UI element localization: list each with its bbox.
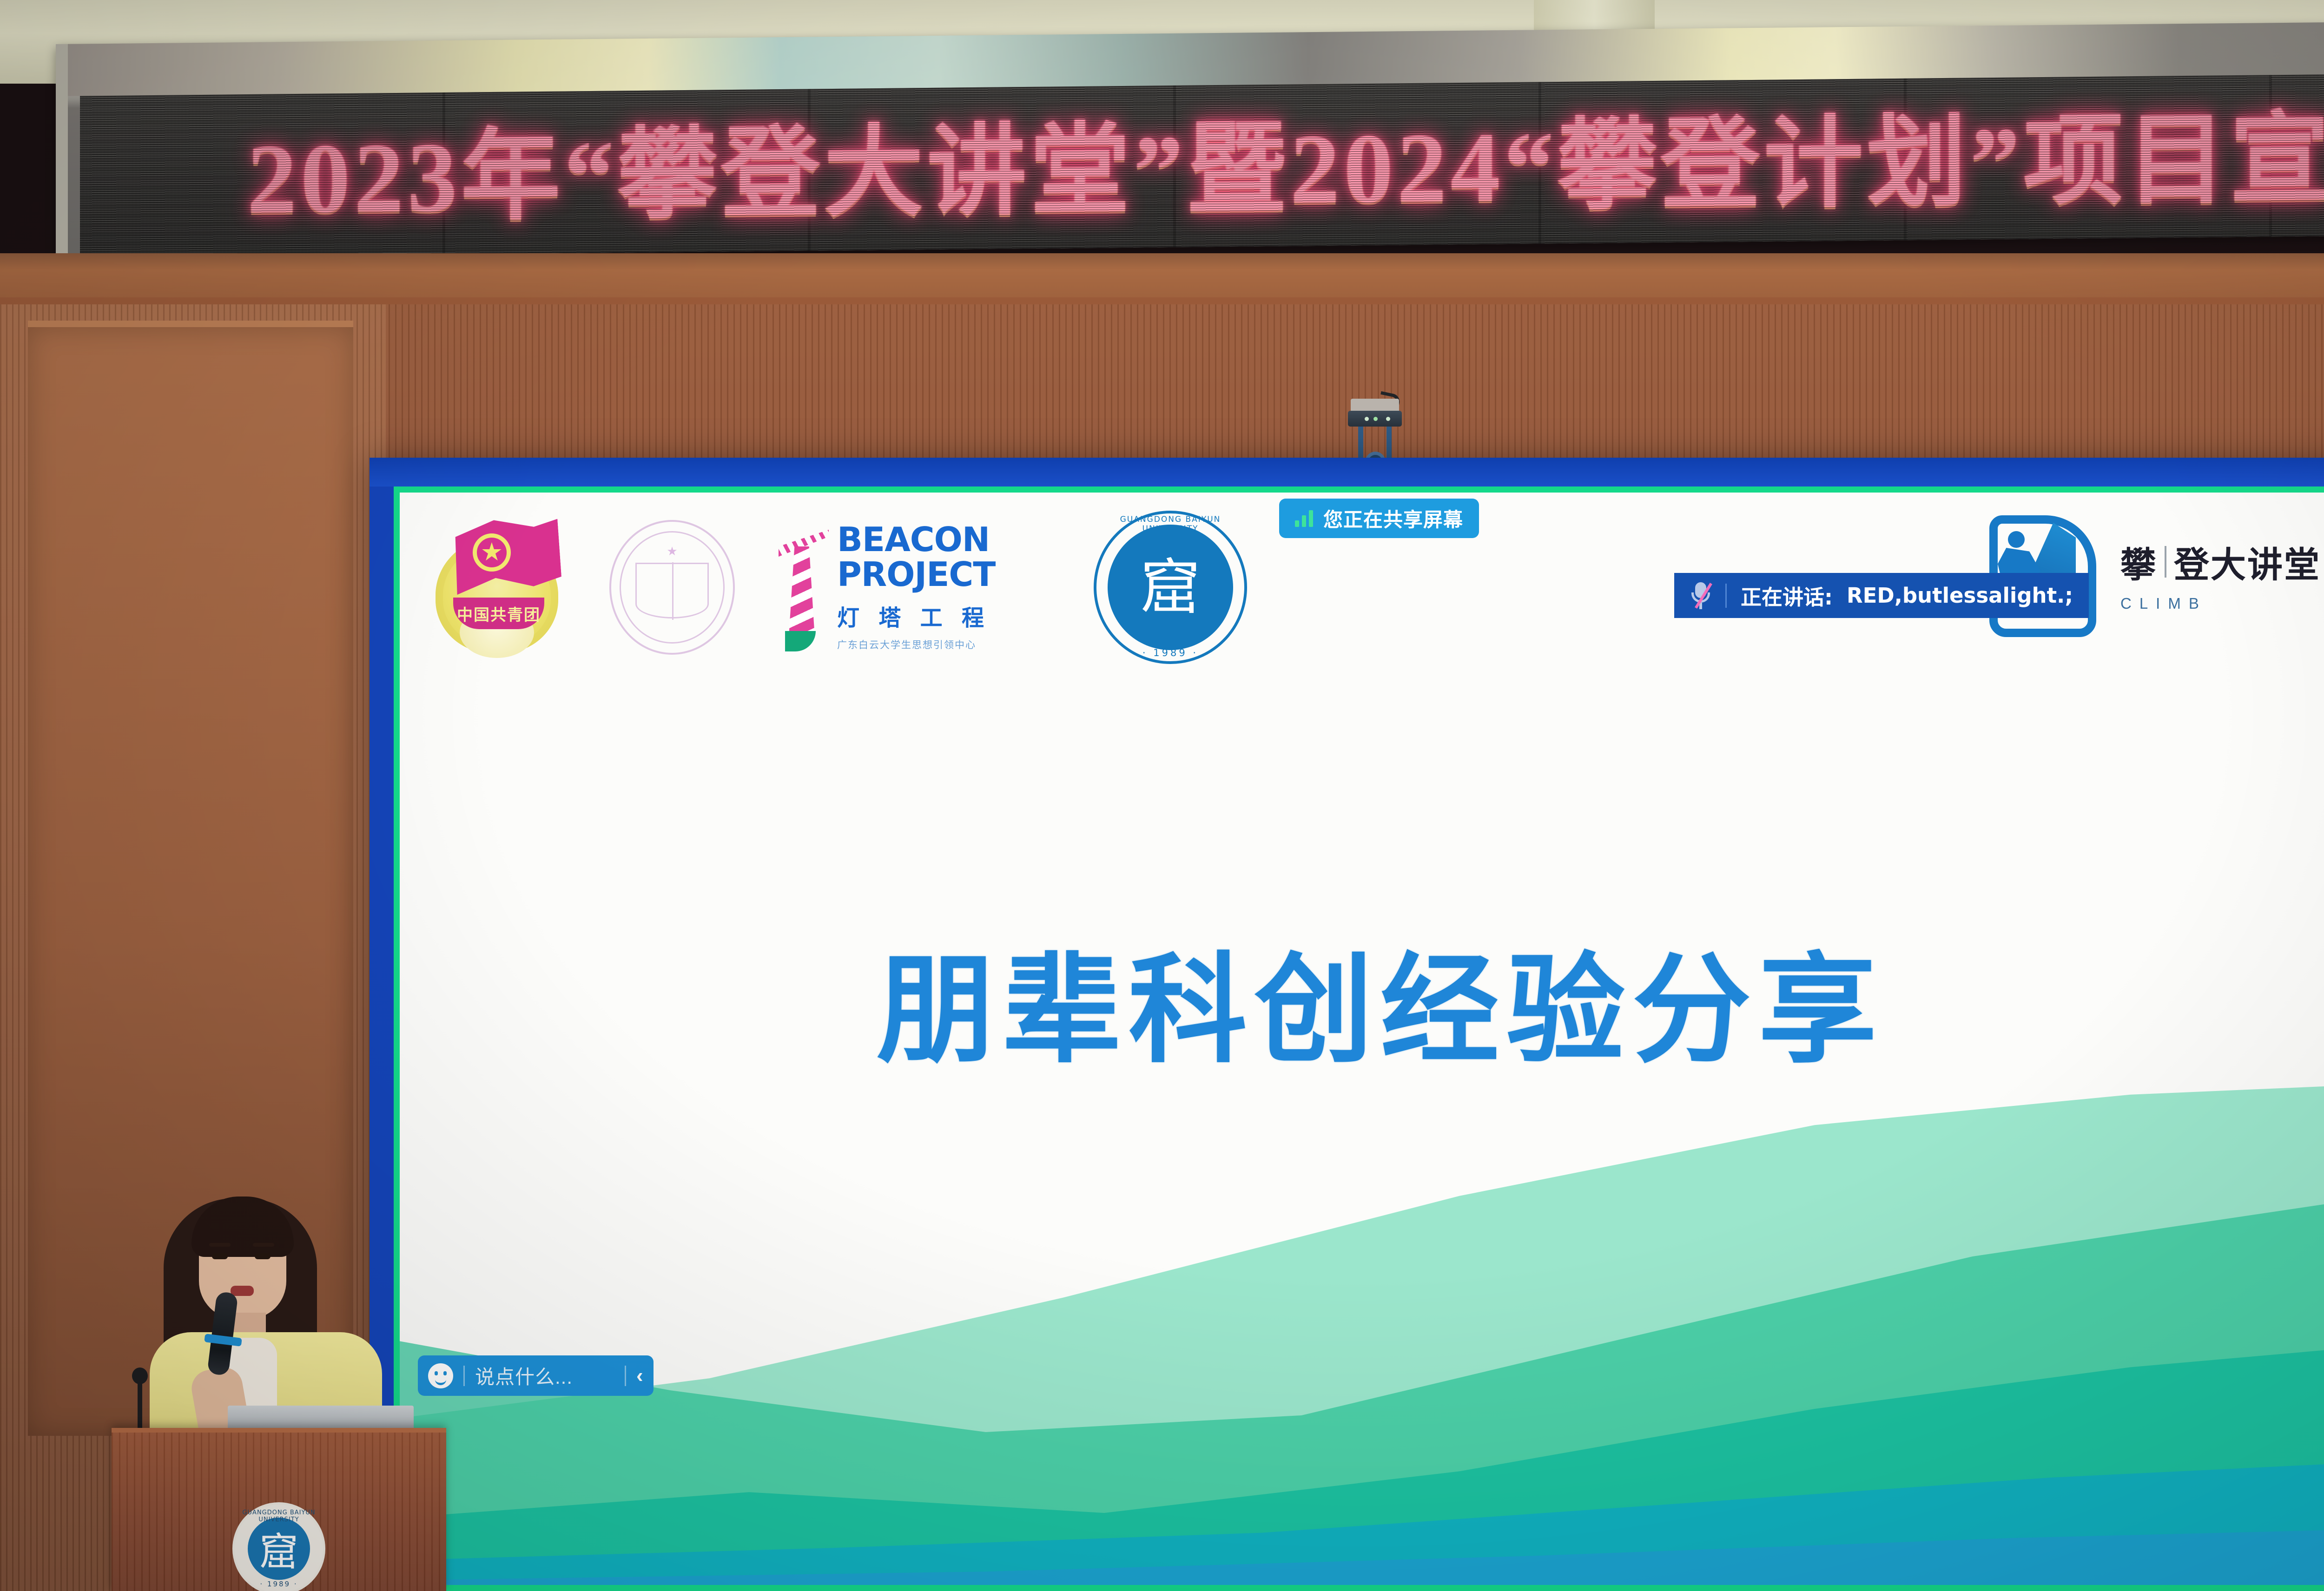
- led-banner-panel: 2023年“攀登大讲堂”暨2024“攀登计划”项目宣讲会: [80, 71, 2324, 257]
- tooltip-divider: [1725, 584, 1727, 608]
- climber-head: [2008, 531, 2025, 548]
- univ-seal-gate-glyph: 窟: [1136, 550, 1205, 625]
- climb-cn-left: 攀: [2120, 536, 2157, 587]
- communist-youth-league-emblem-icon: 中国共青团: [430, 518, 569, 657]
- screen-content-area: 中国共青团 ★: [394, 487, 2324, 1591]
- beacon-en-line1: BEACON: [837, 523, 995, 556]
- presenter-brow-left: [209, 1243, 231, 1247]
- slide-wave-decoration: [394, 1006, 2324, 1591]
- guangdong-baiyun-university-seal-icon: GUANGDONG BAIYUN UNIVERSITY 窟 · 1989 ·: [1094, 511, 1247, 664]
- presenter-mouth: [231, 1286, 254, 1296]
- beacon-en-line2: PROJECT: [837, 558, 995, 591]
- chat-separator-right: [625, 1366, 626, 1386]
- presenter-eye-right: [255, 1253, 271, 1259]
- climb-divider: [2165, 546, 2166, 578]
- climb-cn-row: 攀 登大讲堂: [2120, 536, 2321, 587]
- conference-hall-photo: 2023年“攀登大讲堂”暨2024“攀登计划”项目宣讲会: [0, 0, 2324, 1591]
- camera-led-2: [1373, 417, 1378, 421]
- lighthouse-tower: [789, 546, 815, 638]
- league-star-icon: [473, 533, 511, 572]
- stage-frame-header: [363, 304, 2324, 462]
- climb-en-text: CLIMB: [2120, 595, 2321, 612]
- lectern: GUANGDONG BAIYUN UNIVERSITY 窟 · 1989 ·: [112, 1428, 446, 1591]
- camera-led-3: [1386, 417, 1390, 421]
- screen-share-label: 您正在共享屏幕: [1323, 504, 1463, 533]
- camera-led-1: [1365, 417, 1369, 421]
- lectern-seal-top-text: GUANGDONG BAIYUN UNIVERSITY: [235, 1509, 323, 1523]
- book-pages-icon: [635, 563, 709, 618]
- book-seal-icon: ★: [609, 520, 735, 655]
- projection-screen: 中国共青团 ★: [370, 458, 2324, 1591]
- beacon-sub-text: 广东白云大学生思想引领中心: [837, 638, 995, 651]
- active-speaker-tooltip: 正在讲话: RED,butlessalight.;: [1674, 573, 2089, 618]
- beacon-project-logo: BEACON PROJECT 灯 塔 工 程 广东白云大学生思想引领中心: [775, 518, 1054, 657]
- slide-logo-row: 中国共青团 ★: [430, 511, 1247, 664]
- desk-microphone-icon: [132, 1367, 148, 1437]
- beacon-text-block: BEACON PROJECT 灯 塔 工 程 广东白云大学生思想引领中心: [837, 523, 995, 651]
- lectern-area: GUANGDONG BAIYUN UNIVERSITY 窟 · 1989 ·: [112, 1183, 446, 1591]
- chat-input-placeholder[interactable]: 说点什么...: [475, 1361, 614, 1390]
- beacon-cn-text: 灯 塔 工 程: [837, 599, 995, 632]
- speaking-label: 正在讲话:: [1741, 580, 1833, 611]
- presenter-brow-right: [253, 1243, 274, 1247]
- lectern-seal-bottom-text: · 1989 ·: [235, 1580, 323, 1588]
- microphone-muted-icon: [1690, 581, 1711, 610]
- lighthouse-base: [785, 631, 816, 651]
- presenter-eye-left: [212, 1253, 228, 1259]
- slide-title: 朋辈科创经验分享: [394, 914, 2324, 1085]
- chevron-left-icon[interactable]: ‹: [636, 1366, 643, 1386]
- book-seal-star-icon: ★: [667, 544, 677, 559]
- screen-share-indicator[interactable]: 您正在共享屏幕: [1279, 499, 1479, 538]
- lectern-seal-center-glyph: 窟: [248, 1518, 310, 1580]
- lighthouse-icon: [775, 527, 830, 648]
- speaking-username: RED,butlessalight.;: [1847, 583, 2073, 608]
- league-band-text: 中国共青团: [453, 598, 544, 629]
- led-banner-text: 2023年“攀登大讲堂”暨2024“攀登计划”项目宣讲会: [80, 74, 2324, 243]
- climb-text-block: 攀 登大讲堂 CLIMB: [2120, 536, 2321, 612]
- univ-seal-bottom-text: · 1989 ·: [1094, 647, 1247, 658]
- led-banner-frame: 2023年“攀登大讲堂”暨2024“攀登计划”项目宣讲会: [56, 19, 2324, 258]
- lectern-university-seal-icon: GUANGDONG BAIYUN UNIVERSITY 窟 · 1989 ·: [232, 1502, 325, 1591]
- climb-cn-right: 登大讲堂: [2174, 536, 2321, 587]
- chat-input-bar[interactable]: 说点什么... ‹: [418, 1355, 654, 1396]
- presentation-slide: 中国共青团 ★: [394, 487, 2324, 1591]
- screen-bezel-top: [370, 458, 2324, 487]
- signal-bars-icon: [1295, 510, 1313, 527]
- chat-separator-left: [463, 1366, 465, 1386]
- presenter: [139, 1183, 390, 1443]
